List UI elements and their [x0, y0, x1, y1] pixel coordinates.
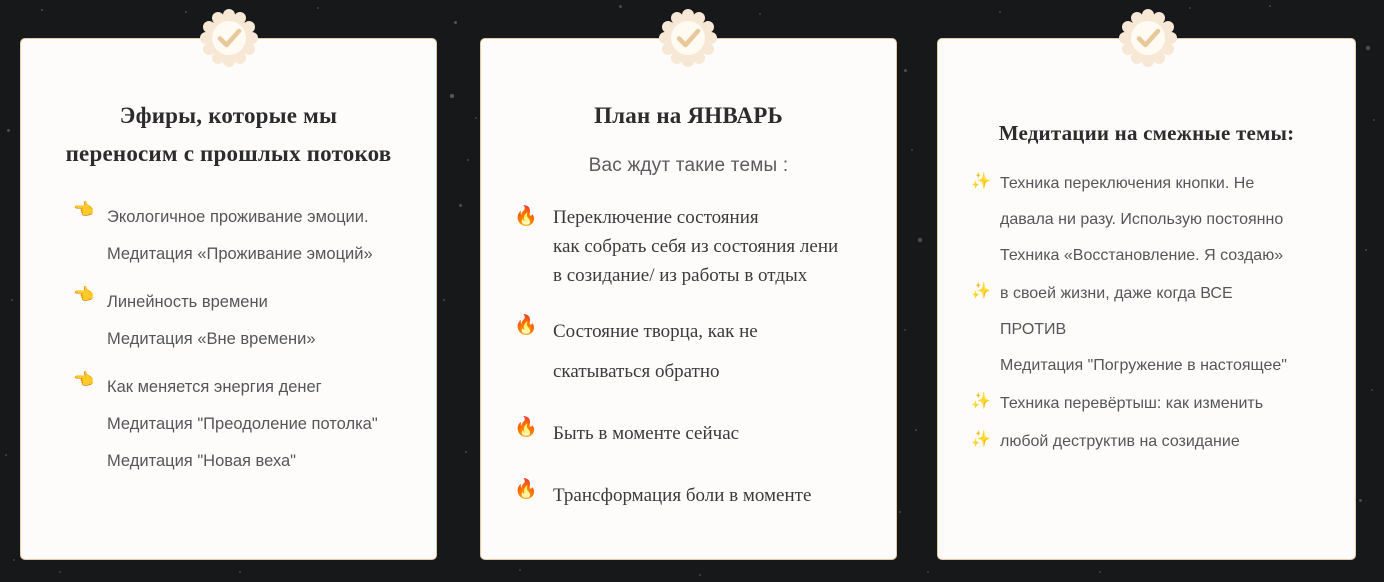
card-item-list: ✨ Техника переключения кнопки. Не давала… [956, 166, 1337, 460]
list-item-text: любой деструктив на созидание [968, 424, 1337, 460]
card-body: Медитации на смежные темы: ✨ Техника пер… [938, 114, 1355, 560]
card-body: Эфиры, которые мы переносим с прошлых по… [21, 97, 436, 560]
verified-check-seal-icon [199, 8, 259, 68]
pointing-hand-emoji: 👈 [71, 371, 97, 388]
list-item-text: Быть в моменте сейчас [513, 414, 878, 454]
fire-emoji: 🔥 [513, 207, 539, 226]
list-item: 🔥 Состояние творца, как не скатываться о… [513, 312, 878, 392]
card-body: План на ЯНВАРЬ Вас ждут такие темы : 🔥 П… [481, 97, 896, 560]
list-item-text: Переключение состояния как собрать себя … [513, 203, 878, 290]
sparkles-emoji: ✨ [968, 174, 994, 190]
list-item-text: Как меняется энергия денег Медитация "Пр… [71, 369, 418, 480]
fire-emoji: 🔥 [513, 480, 539, 499]
card-past-streams: Эфиры, которые мы переносим с прошлых по… [20, 38, 437, 560]
list-item: 🔥 Быть в моменте сейчас [513, 414, 878, 454]
page-background: Эфиры, которые мы переносим с прошлых по… [0, 0, 1384, 582]
list-item-text: Трансформация боли в моменте [513, 476, 878, 516]
sparkles-emoji: ✨ [968, 394, 994, 410]
card-title: План на ЯНВАРЬ [499, 97, 878, 135]
list-item: 🔥 Переключение состояния как собрать себ… [513, 203, 878, 290]
card-subtitle: Вас ждут такие темы : [499, 155, 878, 177]
list-item: ✨ любой деструктив на созидание [968, 424, 1337, 460]
fire-emoji: 🔥 [513, 316, 539, 335]
verified-check-seal-icon [1118, 8, 1178, 68]
card-item-list: 👈 Экологичное проживание эмоции. Медитац… [39, 199, 418, 480]
verified-check-seal-icon [658, 8, 718, 68]
card-related-meditations: Медитации на смежные темы: ✨ Техника пер… [937, 38, 1356, 560]
card-january-plan: План на ЯНВАРЬ Вас ждут такие темы : 🔥 П… [480, 38, 897, 560]
list-item: 👈 Линейность времени Медитация «Вне врем… [71, 284, 418, 358]
list-item-text: Экологичное проживание эмоции. Медитация… [71, 199, 418, 273]
list-item: ✨ Техника перевёртыш: как изменить [968, 386, 1337, 422]
sparkles-emoji: ✨ [968, 284, 994, 300]
cards-row: Эфиры, которые мы переносим с прошлых по… [0, 0, 1384, 582]
list-item-text: Техника переключения кнопки. Не давала н… [968, 166, 1337, 274]
pointing-hand-emoji: 👈 [71, 201, 97, 218]
list-item-text: Техника перевёртыш: как изменить [968, 386, 1337, 422]
pointing-hand-emoji: 👈 [71, 286, 97, 303]
list-item: ✨ Техника переключения кнопки. Не давала… [968, 166, 1337, 274]
list-item: 🔥 Трансформация боли в моменте [513, 476, 878, 516]
list-item-text: Состояние творца, как не скатываться обр… [513, 312, 878, 392]
list-item-text: Линейность времени Медитация «Вне времен… [71, 284, 418, 358]
list-item: ✨ в своей жизни, даже когда ВСЕ ПРОТИВ М… [968, 276, 1337, 384]
list-item-text: в своей жизни, даже когда ВСЕ ПРОТИВ Мед… [968, 276, 1337, 384]
card-title: Медитации на смежные темы: [956, 114, 1337, 152]
card-title: Эфиры, которые мы переносим с прошлых по… [39, 97, 418, 173]
list-item: 👈 Экологичное проживание эмоции. Медитац… [71, 199, 418, 273]
fire-emoji: 🔥 [513, 418, 539, 437]
sparkles-emoji: ✨ [968, 432, 994, 448]
list-item: 👈 Как меняется энергия денег Медитация "… [71, 369, 418, 480]
card-item-list: 🔥 Переключение состояния как собрать себ… [499, 203, 878, 516]
